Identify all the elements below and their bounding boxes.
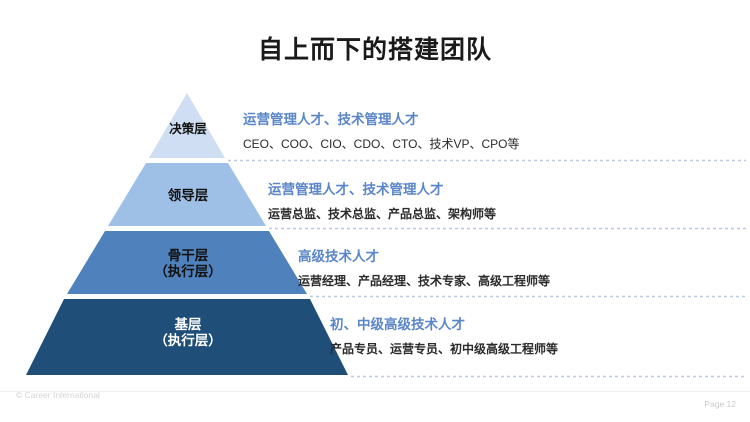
pyramid-tier-3-label: 骨干层 （执行层） (118, 248, 258, 280)
tier-2-heading: 运营管理人才、技术管理人才 (268, 178, 496, 198)
pyramid-tier-1-label: 决策层 (140, 122, 236, 137)
tier-3-detail: 运营经理、产品经理、技术专家、高级工程师等 (298, 272, 550, 289)
tier-3-heading: 高级技术人才 (298, 245, 550, 265)
pyramid-tier-4-label: 基层 （执行层） (108, 317, 268, 349)
tier-4-detail: 产品专员、运营专员、初中级高级工程师等 (330, 340, 558, 357)
tier-2-description: 运营管理人才、技术管理人才 运营总监、技术总监、产品总监、架构师等 (268, 178, 496, 222)
tier-1-heading: 运营管理人才、技术管理人才 (243, 108, 519, 128)
tier-3-description: 高级技术人才 运营经理、产品经理、技术专家、高级工程师等 (298, 245, 550, 289)
tier-2-detail: 运营总监、技术总监、产品总监、架构师等 (268, 205, 496, 222)
tier-4-heading: 初、中级高级技术人才 (330, 313, 558, 333)
pyramid-tier-2-label: 领导层 (128, 188, 248, 204)
copyright-notice: © Career International (16, 390, 100, 400)
slide-canvas: 自上而下的搭建团队 决策层 领导层 骨干层 （执行层） 基层 （执行层） 运营管… (0, 0, 750, 422)
tier-4-description: 初、中级高级技术人才 产品专员、运营专员、初中级高级工程师等 (330, 313, 558, 357)
footer-divider (0, 391, 750, 392)
tier-1-detail: CEO、COO、CIO、CDO、CTO、技术VP、CPO等 (243, 135, 519, 152)
page-number: Page 12 (704, 399, 736, 409)
tier-1-description: 运营管理人才、技术管理人才 CEO、COO、CIO、CDO、CTO、技术VP、C… (243, 108, 519, 152)
